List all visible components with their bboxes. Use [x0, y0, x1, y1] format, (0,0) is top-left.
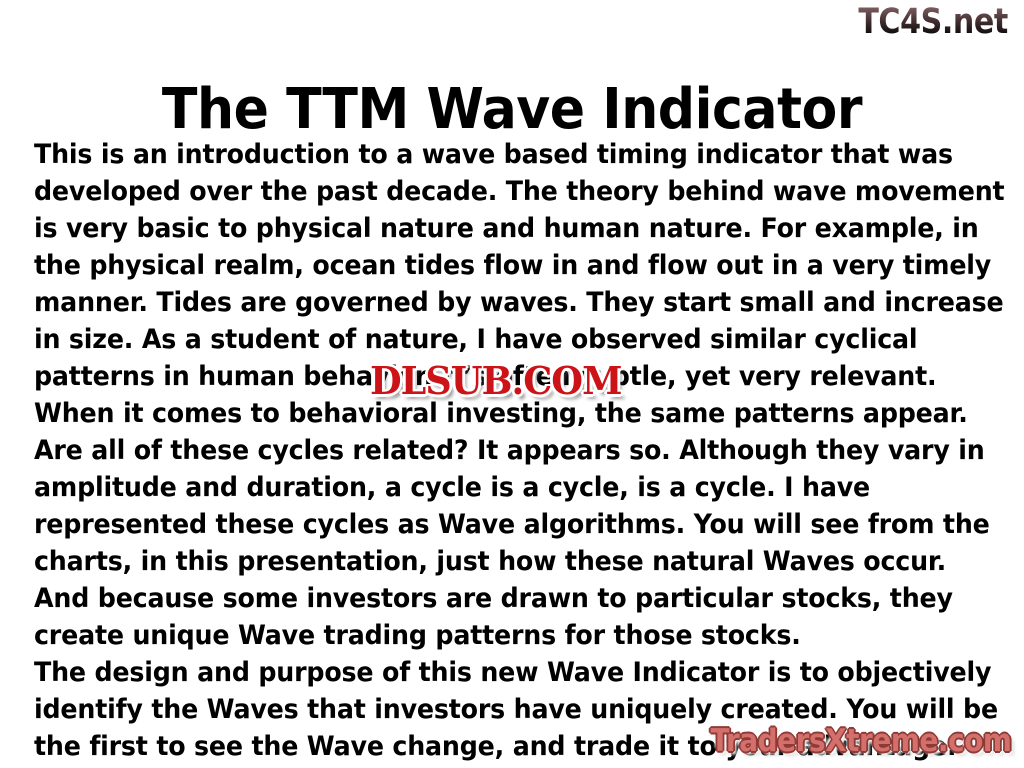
- dlsub-watermark: DLSUB.COM: [370, 359, 622, 403]
- body-line: developed over the past decade. The theo…: [34, 173, 958, 210]
- body-line: in size. As a student of nature, I have …: [34, 321, 958, 358]
- body-line: amplitude and duration, a cycle is a cyc…: [34, 469, 958, 506]
- tradersxtreme-logo: TradersXtreme.com: [711, 722, 1012, 760]
- body-line: the physical realm, ocean tides flow in …: [34, 247, 958, 284]
- body-line: represented these cycles as Wave algorit…: [34, 506, 958, 543]
- body-line: create unique Wave trading patterns for …: [34, 617, 958, 654]
- slide-body-text: This is an introduction to a wave based …: [34, 136, 958, 765]
- page-title: The TTM Wave Indicator: [36, 79, 988, 141]
- body-line: charts, in this presentation, just how t…: [34, 543, 958, 580]
- body-line: Are all of these cycles related? It appe…: [34, 432, 958, 469]
- tc4s-logo: TC4S.net: [859, 2, 1008, 42]
- body-line: This is an introduction to a wave based …: [34, 136, 958, 173]
- body-line: is very basic to physical nature and hum…: [34, 210, 958, 247]
- body-line: And because some investors are drawn to …: [34, 580, 958, 617]
- body-line: The design and purpose of this new Wave …: [34, 654, 958, 691]
- presentation-slide: TC4S.net The TTM Wave Indicator This is …: [0, 0, 1024, 768]
- body-line: manner. Tides are governed by waves. The…: [34, 284, 958, 321]
